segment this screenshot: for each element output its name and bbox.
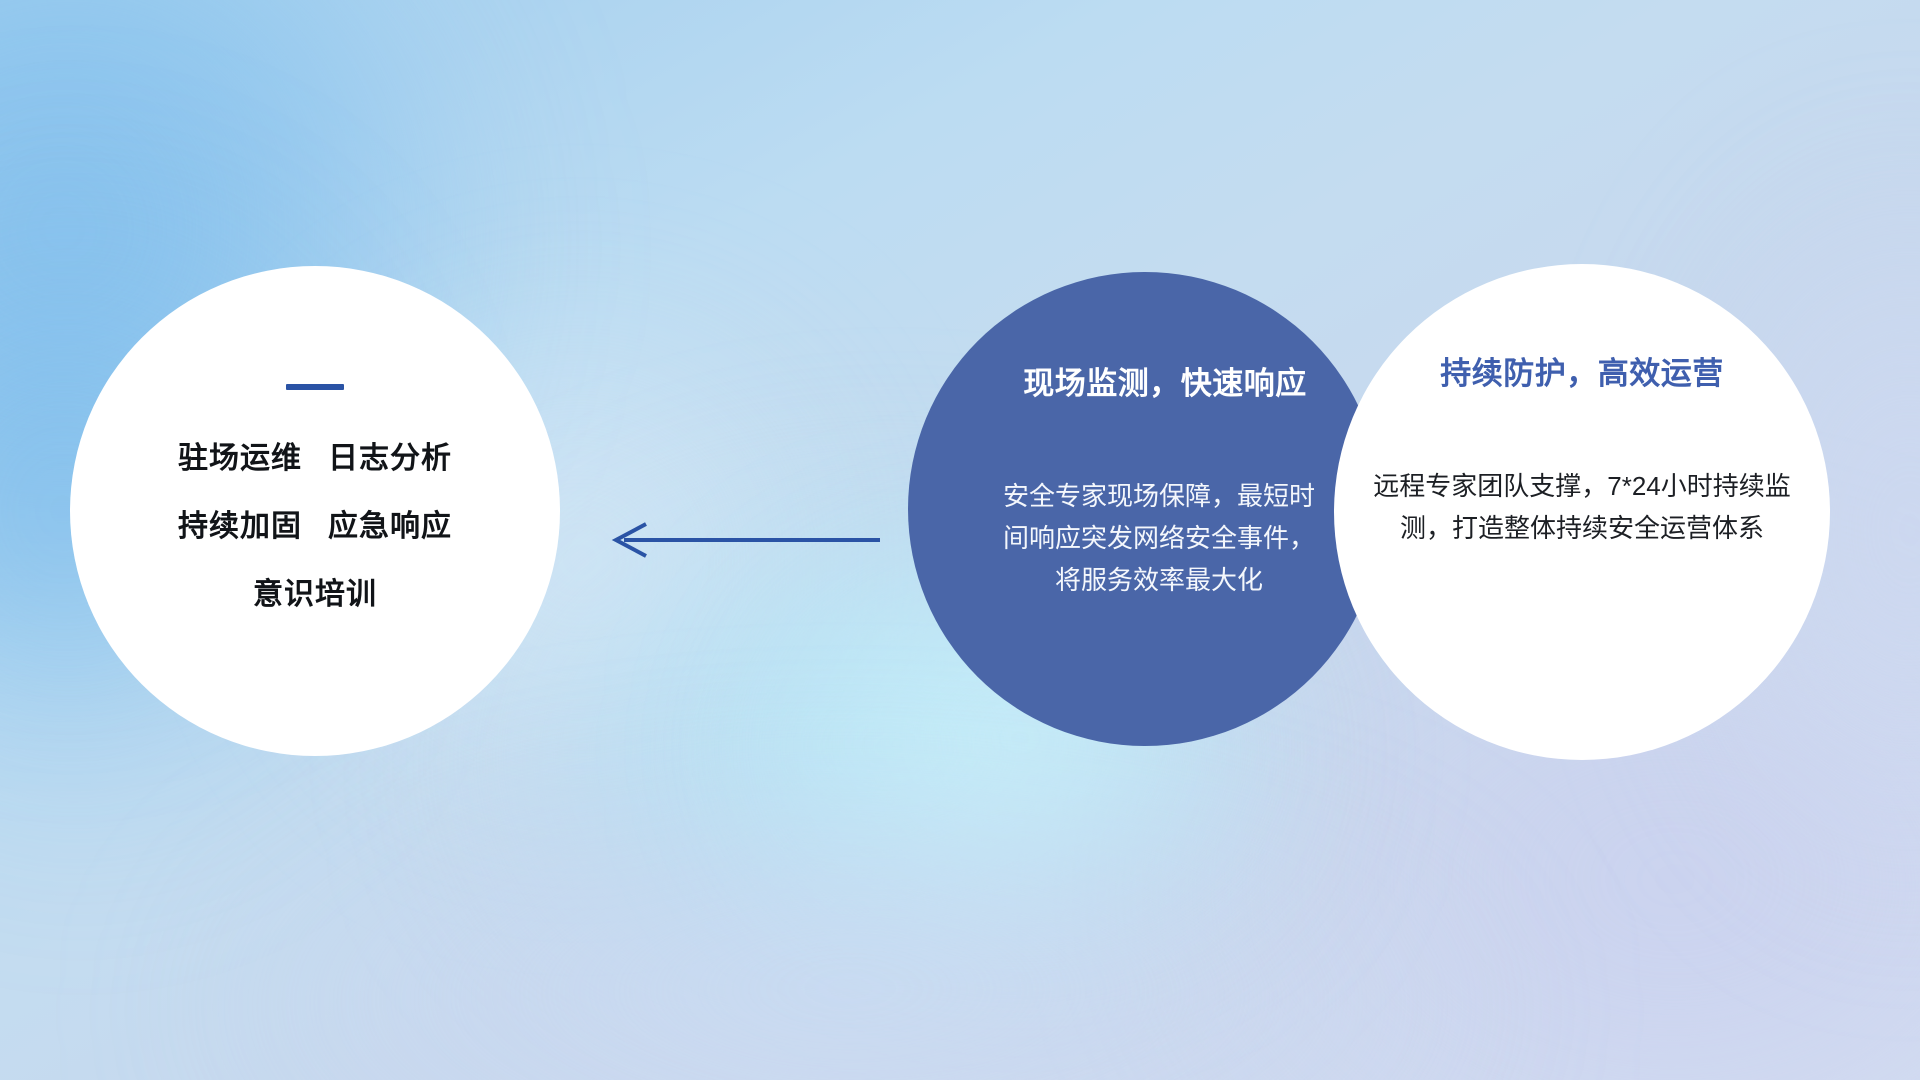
capability-label: 驻场运维 xyxy=(178,442,302,475)
capability-label: 应急响应 xyxy=(328,510,452,543)
capability-label: 持续加固 xyxy=(178,510,302,543)
middle-circle-title: 现场监测，快速响应 xyxy=(1023,358,1307,403)
left-circle-content: 驻场运维日志分析 持续加固应急响应 意识培训 xyxy=(70,266,560,756)
arrow-left-icon xyxy=(600,516,880,564)
middle-circle-body: 安全专家现场保障，最短时间响应突发网络安全事件，将服务效率最大化 xyxy=(1000,475,1318,601)
capability-label: 日志分析 xyxy=(328,442,452,475)
middle-circle-content: 现场监测，快速响应 安全专家现场保障，最短时间响应突发网络安全事件，将服务效率最… xyxy=(908,272,1382,746)
list-item: 持续加固应急响应 xyxy=(70,512,560,542)
list-item: 驻场运维日志分析 xyxy=(70,444,560,474)
right-circle-title: 持续防护，高效运营 xyxy=(1440,348,1724,393)
left-circle-capability-list: 驻场运维日志分析 持续加固应急响应 意识培训 xyxy=(70,444,560,610)
right-circle-body: 远程专家团队支撑，7*24小时持续监测，打造整体持续安全运营体系 xyxy=(1373,465,1791,549)
list-item: 意识培训 xyxy=(70,580,560,610)
capability-label: 意识培训 xyxy=(253,578,377,611)
right-circle-content: 持续防护，高效运营 远程专家团队支撑，7*24小时持续监测，打造整体持续安全运营… xyxy=(1334,264,1830,760)
left-circle-divider xyxy=(286,384,344,390)
